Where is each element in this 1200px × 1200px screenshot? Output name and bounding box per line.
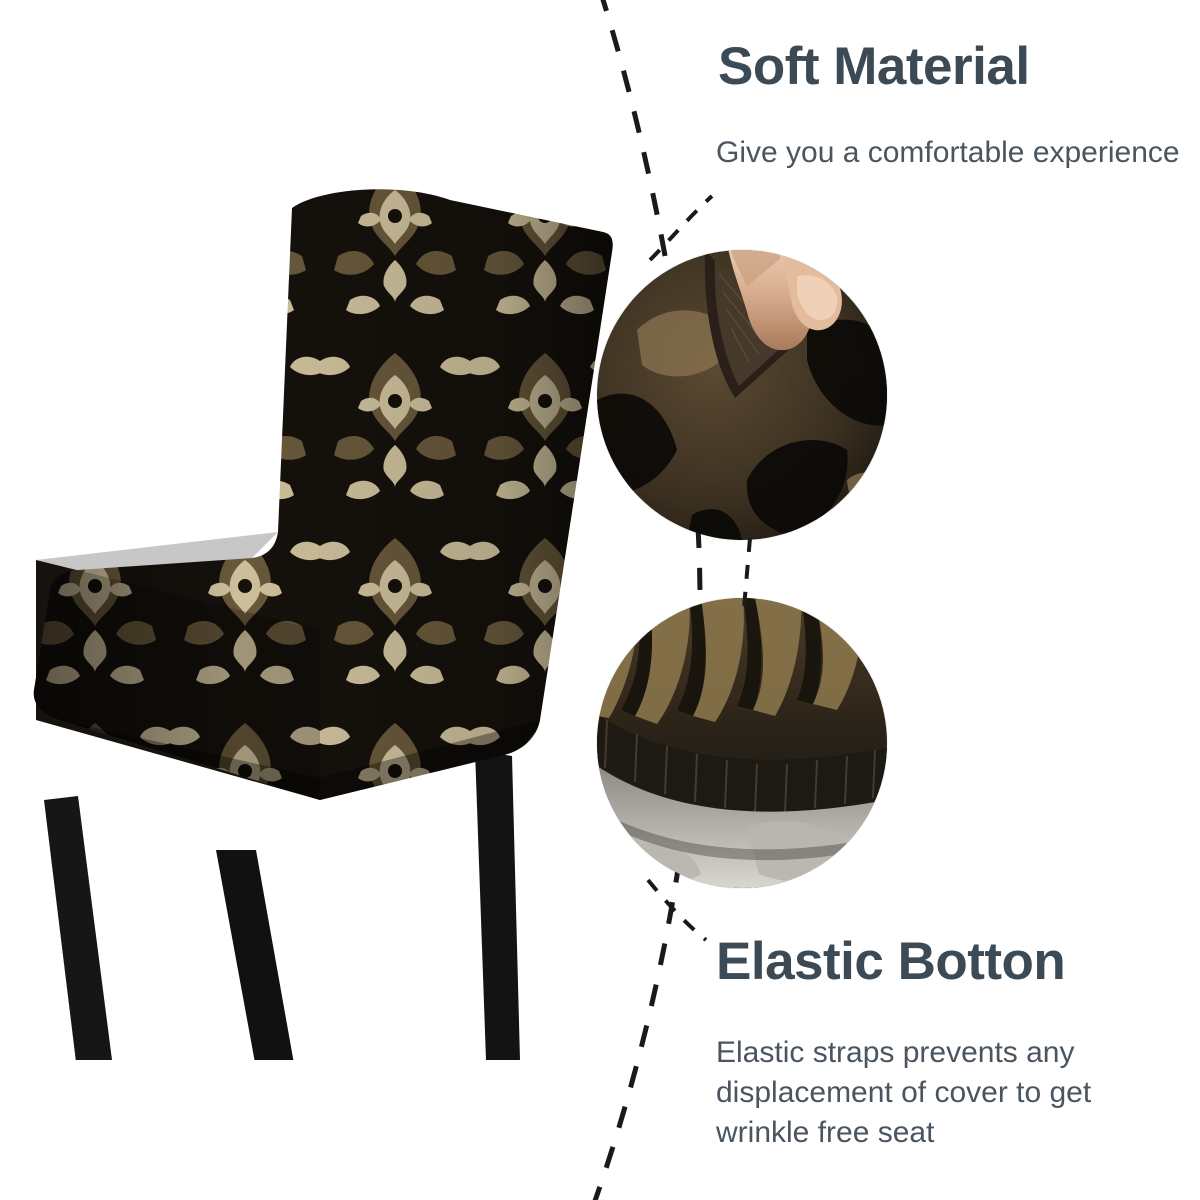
photo-soft-material — [597, 250, 887, 540]
product-chair-image — [20, 160, 620, 1060]
photo-elastic-botton — [597, 598, 887, 888]
chair-legs — [44, 750, 520, 1060]
feature-headline-soft-material: Soft Material — [718, 36, 1030, 97]
feature-description-soft-material: Give you a comfortable experience — [716, 133, 1186, 173]
infographic-canvas: Soft Material Give you a comfortable exp… — [0, 0, 1200, 1200]
feature-headline-elastic-botton: Elastic Botton — [716, 931, 1065, 992]
chair-cover — [34, 189, 613, 800]
feature-description-elastic-botton: Elastic straps prevents any displacement… — [716, 1033, 1186, 1153]
